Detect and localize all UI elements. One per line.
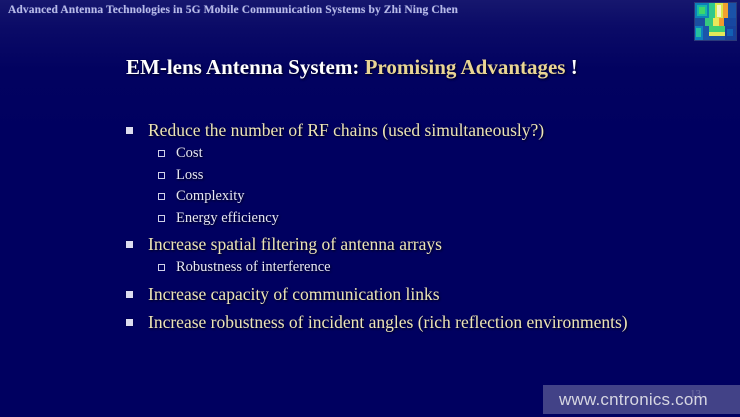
presentation-header-title: Advanced Antenna Technologies in 5G Mobi… [8, 4, 458, 16]
sub-bullet-label: Cost [176, 145, 203, 161]
hollow-square-bullet-icon [158, 150, 165, 157]
filled-square-bullet-icon [126, 241, 133, 248]
slide-title-accent: Promising Advantages [365, 55, 566, 79]
bullet-label: Increase capacity of communication links [148, 284, 440, 304]
sub-bullet-item: Energy efficiency [0, 208, 740, 230]
sub-bullet-label: Energy efficiency [176, 210, 279, 226]
sub-bullet-item: Complexity [0, 186, 740, 208]
slide-header-bar: Advanced Antenna Technologies in 5G Mobi… [0, 0, 740, 26]
sub-bullet-label: Loss [176, 167, 203, 183]
sub-bullet-label: Complexity [176, 188, 244, 204]
hollow-square-bullet-icon [158, 264, 165, 271]
slide-title-part3: ! [565, 55, 577, 79]
bullet-item: Increase spatial filtering of antenna ar… [0, 232, 740, 257]
sub-bullet-item: Cost [0, 143, 740, 165]
hollow-square-bullet-icon [158, 215, 165, 222]
bullet-item: Reduce the number of RF chains (used sim… [0, 118, 740, 143]
filled-square-bullet-icon [126, 127, 133, 134]
hollow-square-bullet-icon [158, 193, 165, 200]
sub-bullet-item: Robustness of interference [0, 257, 740, 279]
bullet-label: Increase spatial filtering of antenna ar… [148, 234, 442, 254]
bullet-item: Increase robustness of incident angles (… [0, 310, 740, 335]
bullet-label: Increase robustness of incident angles (… [148, 312, 628, 332]
hollow-square-bullet-icon [158, 172, 165, 179]
sub-bullet-label: Robustness of interference [176, 259, 331, 275]
filled-square-bullet-icon [126, 291, 133, 298]
slide-title: EM-lens Antenna System: Promising Advant… [126, 55, 578, 80]
slide-body: Reduce the number of RF chains (used sim… [0, 118, 740, 335]
bullet-label: Reduce the number of RF chains (used sim… [148, 120, 544, 140]
watermark-text: www.cntronics.com [559, 390, 708, 410]
sub-bullet-item: Loss [0, 165, 740, 187]
em-field-plot-icon [694, 2, 737, 41]
bullet-item: Increase capacity of communication links [0, 282, 740, 307]
slide-title-part1: EM-lens Antenna System: [126, 55, 365, 79]
presentation-slide: Advanced Antenna Technologies in 5G Mobi… [0, 0, 740, 417]
filled-square-bullet-icon [126, 319, 133, 326]
